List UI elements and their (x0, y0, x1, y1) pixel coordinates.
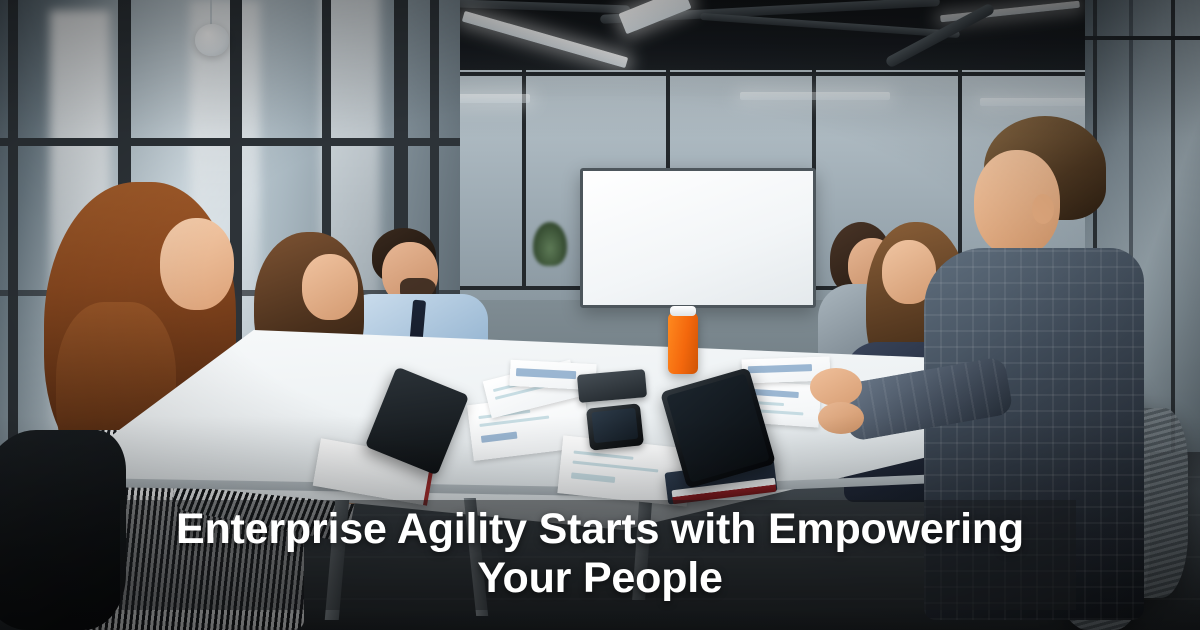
pendant-lamp-cord (210, 0, 212, 26)
hero-image: Enterprise Agility Starts with Empowerin… (0, 0, 1200, 630)
bottle-cap (670, 306, 696, 316)
hand (810, 368, 862, 406)
ear (1032, 194, 1054, 224)
head (160, 218, 234, 310)
potted-plant (533, 222, 567, 266)
hand (818, 402, 864, 434)
whiteboard (580, 168, 816, 308)
title-line-1: Enterprise Agility Starts with Empowerin… (176, 505, 1024, 553)
title-line-2: Your People (0, 554, 1200, 603)
page-title: Enterprise Agility Starts with Empowerin… (0, 498, 1200, 603)
laptop (577, 369, 647, 403)
pendant-lamp-icon (195, 24, 229, 56)
orange-bottle (668, 312, 698, 374)
smartphone (586, 403, 644, 450)
